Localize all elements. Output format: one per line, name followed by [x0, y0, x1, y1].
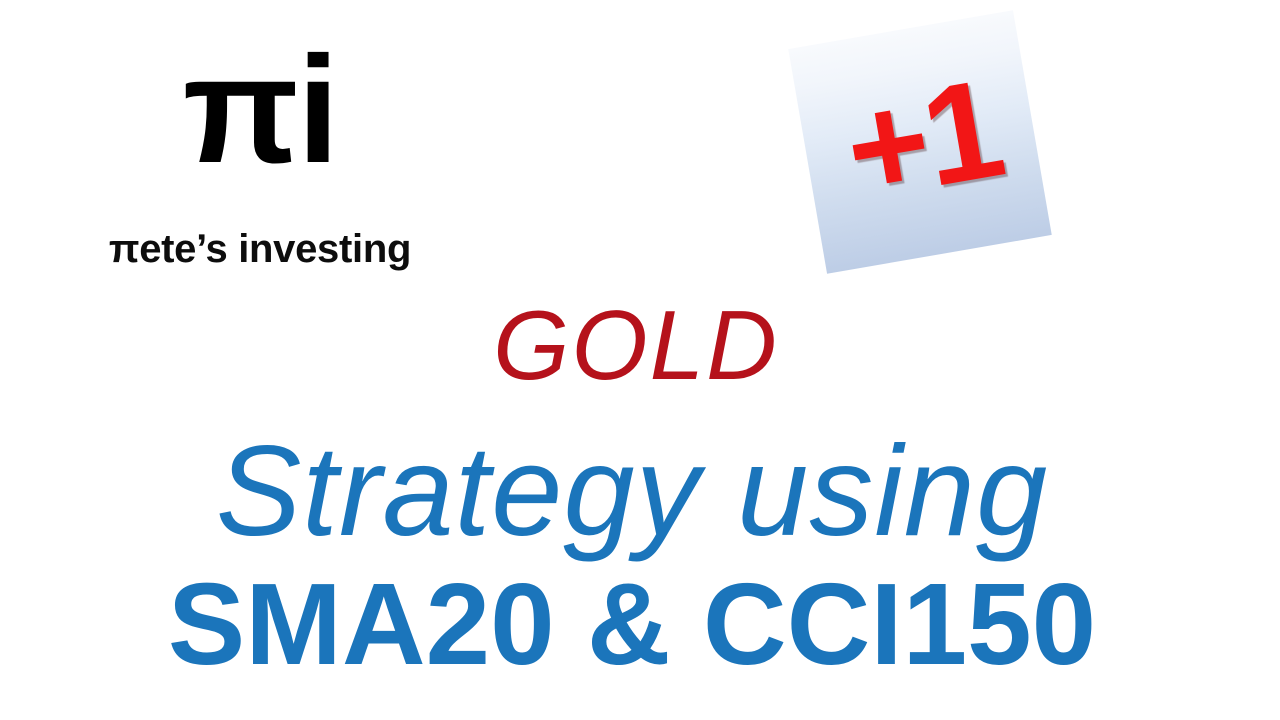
headline-line-indicators: SMA20 & CCI150 — [0, 566, 1272, 682]
plus-one-label: +1 — [788, 10, 1051, 273]
pi-logo-mark: πi — [0, 34, 520, 186]
headline-line-gold: GOLD — [0, 296, 1276, 394]
headline-line-strategy: Strategy using — [0, 428, 1272, 556]
brand-logo-block: πi πete’s investing — [0, 0, 520, 300]
brand-tagline: πete’s investing — [0, 229, 520, 269]
title-card: πi πete’s investing +1 GOLD Strategy usi… — [0, 0, 1280, 720]
plus-one-badge: +1 — [788, 10, 1051, 273]
